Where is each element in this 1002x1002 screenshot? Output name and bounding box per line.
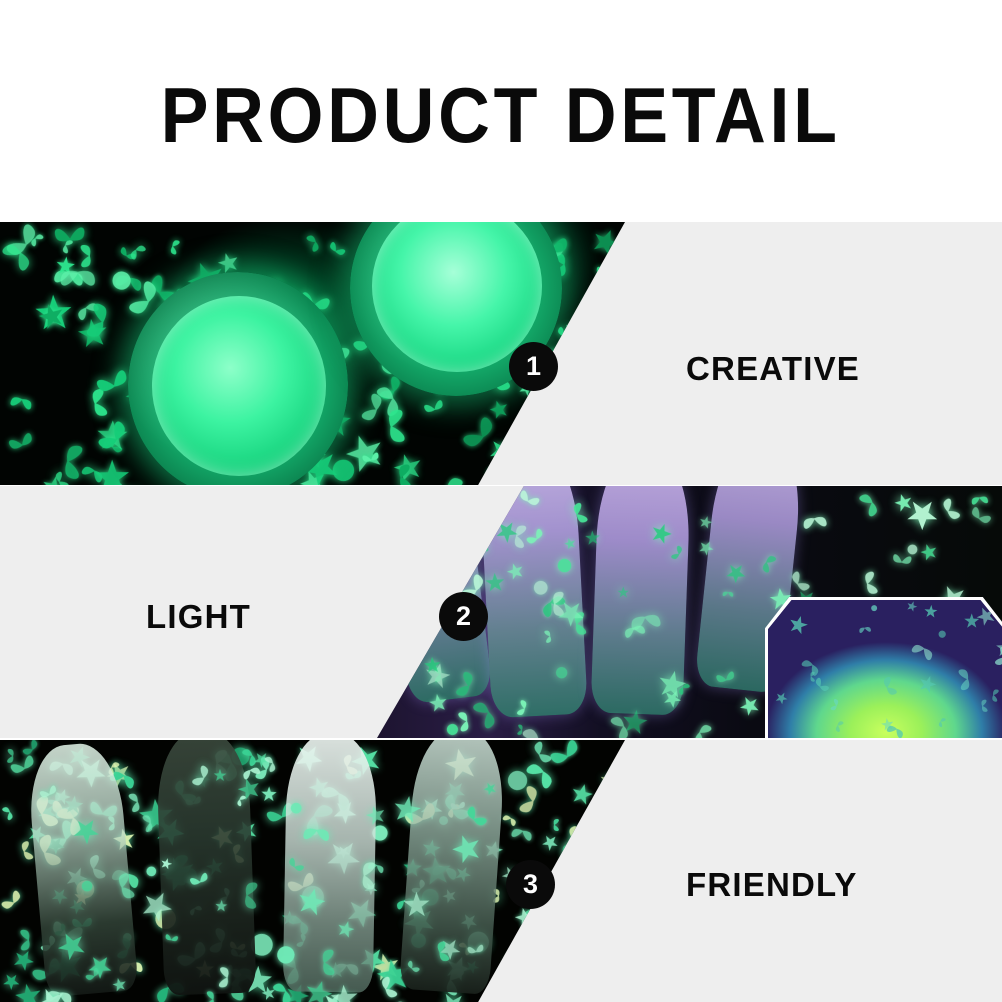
butterfly-sequin bbox=[621, 381, 625, 403]
star-sequin bbox=[538, 830, 562, 854]
star-sequin bbox=[34, 298, 71, 335]
star-sequin bbox=[478, 489, 500, 511]
coffin-nail-2 bbox=[155, 740, 256, 996]
star-sequin bbox=[563, 966, 595, 998]
butterfly-sequin bbox=[424, 466, 469, 485]
butterfly-sequin bbox=[908, 631, 941, 664]
butterfly-sequin bbox=[125, 789, 151, 815]
section-2-caption: LIGHT bbox=[146, 598, 251, 636]
star-sequin bbox=[443, 530, 474, 561]
butterfly-sequin bbox=[455, 708, 480, 733]
butterfly-sequin bbox=[857, 620, 872, 635]
star-sequin bbox=[918, 541, 940, 563]
butterfly-sequin bbox=[371, 406, 411, 446]
butterfly-sequin bbox=[962, 503, 995, 536]
butterfly-sequin bbox=[456, 410, 510, 464]
butterfly-sequin bbox=[549, 821, 592, 864]
star-sequin bbox=[9, 945, 38, 974]
butterfly-sequin bbox=[355, 389, 398, 432]
star-sequin bbox=[87, 453, 139, 485]
butterfly-sequin bbox=[546, 994, 567, 1002]
dot-sequin bbox=[933, 626, 950, 643]
butterfly-sequin bbox=[604, 817, 624, 837]
star-sequin bbox=[921, 603, 940, 622]
butterfly-sequin bbox=[99, 434, 126, 461]
butterfly-sequin bbox=[112, 260, 148, 296]
butterfly-sequin bbox=[80, 299, 127, 346]
butterfly-sequin bbox=[379, 633, 407, 661]
butterfly-sequin bbox=[17, 927, 42, 952]
step-badge-2: 2 bbox=[439, 592, 488, 641]
inset-butterfly-overlay bbox=[768, 600, 1002, 738]
butterfly-sequin bbox=[617, 797, 625, 820]
butterfly-sequin bbox=[969, 487, 990, 508]
butterfly-sequin bbox=[385, 548, 413, 576]
butterfly-sequin bbox=[52, 222, 88, 258]
star-sequin bbox=[389, 450, 427, 485]
butterfly-sequin bbox=[624, 363, 625, 388]
butterfly-sequin bbox=[58, 252, 98, 292]
butterfly-sequin bbox=[930, 494, 965, 529]
butterfly-sequin bbox=[520, 749, 567, 796]
star-sequin bbox=[590, 884, 625, 921]
butterfly-sequin bbox=[250, 753, 282, 785]
star-sequin bbox=[973, 603, 999, 629]
butterfly-sequin bbox=[974, 698, 990, 714]
star-sequin bbox=[587, 224, 623, 260]
butterfly-sequin bbox=[500, 807, 522, 829]
nail-3 bbox=[590, 486, 691, 716]
star-sequin bbox=[12, 981, 43, 1002]
dot-sequin bbox=[441, 717, 465, 738]
glitter-jar-left-contents bbox=[152, 296, 326, 476]
butterfly-sequin bbox=[533, 419, 587, 473]
butterfly-sequin bbox=[77, 385, 113, 421]
butterfly-sequin bbox=[509, 817, 537, 845]
butterfly-sequin bbox=[162, 236, 183, 257]
star-sequin bbox=[559, 321, 582, 344]
star-sequin bbox=[323, 996, 352, 1002]
butterfly-sequin bbox=[122, 236, 149, 263]
star-sequin bbox=[588, 946, 625, 984]
butterfly-sequin bbox=[805, 671, 817, 683]
star-sequin bbox=[617, 785, 625, 828]
dot-sequin bbox=[578, 320, 604, 346]
butterfly-sequin bbox=[54, 234, 76, 256]
butterfly-sequin bbox=[302, 229, 328, 255]
section-3-caption: FRIENDLY bbox=[686, 866, 858, 904]
star-sequin bbox=[613, 846, 625, 873]
star-sequin bbox=[551, 970, 579, 998]
star-sequin bbox=[904, 599, 920, 615]
butterfly-sequin bbox=[403, 480, 441, 485]
star-sequin bbox=[96, 419, 130, 453]
butterfly-sequin bbox=[46, 439, 89, 482]
star-sequin bbox=[564, 463, 603, 485]
coffin-nail-4 bbox=[399, 740, 507, 995]
coffin-nail-1 bbox=[25, 740, 138, 997]
butterfly-sequin bbox=[78, 453, 112, 485]
butterfly-sequin bbox=[594, 263, 617, 286]
butterfly-sequin bbox=[414, 732, 443, 738]
butterfly-sequin bbox=[114, 243, 139, 268]
page-title: PRODUCT DETAIL bbox=[161, 70, 841, 161]
butterfly-sequin bbox=[360, 449, 383, 472]
section-row-2: 2 LIGHT bbox=[0, 486, 1002, 738]
butterfly-sequin bbox=[393, 996, 418, 1002]
butterfly-sequin bbox=[421, 396, 449, 424]
butterfly-sequin bbox=[557, 938, 599, 980]
butterfly-sequin bbox=[51, 254, 88, 291]
butterfly-sequin bbox=[544, 740, 591, 781]
dot-sequin bbox=[103, 263, 139, 299]
butterfly-sequin bbox=[547, 818, 561, 832]
butterfly-sequin bbox=[682, 715, 716, 738]
butterfly-sequin bbox=[513, 991, 555, 1002]
butterfly-sequin bbox=[0, 228, 45, 278]
butterfly-sequin bbox=[514, 781, 554, 821]
butterfly-sequin bbox=[799, 503, 829, 533]
butterfly-sequin bbox=[24, 227, 47, 250]
butterfly-sequin bbox=[77, 243, 104, 270]
butterfly-sequin bbox=[470, 462, 510, 485]
butterfly-sequin bbox=[510, 468, 530, 485]
star-sequin bbox=[502, 937, 550, 985]
butterfly-sequin bbox=[851, 569, 882, 600]
butterfly-sequin bbox=[612, 923, 625, 949]
butterfly-sequin bbox=[464, 520, 484, 540]
butterfly-sequin bbox=[596, 905, 622, 931]
butterfly-sequin bbox=[579, 878, 623, 922]
butterfly-sequin bbox=[985, 686, 1001, 702]
butterfly-sequin bbox=[0, 222, 55, 273]
star-sequin bbox=[613, 784, 625, 826]
star-sequin bbox=[569, 781, 596, 808]
butterfly-sequin bbox=[532, 409, 571, 448]
butterfly-sequin bbox=[515, 724, 528, 737]
inset-glitter-jar-photo bbox=[768, 600, 1002, 738]
butterfly-sequin bbox=[525, 995, 558, 1002]
butterfly-sequin bbox=[872, 673, 901, 702]
star-sequin bbox=[892, 491, 916, 515]
inset-photo-frame bbox=[765, 597, 1002, 738]
butterfly-sequin bbox=[828, 697, 845, 714]
star-sequin bbox=[547, 462, 582, 485]
butterfly-sequin bbox=[614, 344, 625, 389]
butterfly-sequin bbox=[991, 644, 1002, 671]
butterfly-sequin bbox=[498, 418, 546, 466]
star-sequin bbox=[340, 430, 389, 479]
nail-2 bbox=[478, 486, 588, 718]
star-sequin bbox=[484, 432, 520, 468]
star-sequin bbox=[905, 499, 938, 532]
star-sequin bbox=[36, 471, 70, 485]
butterfly-sequin bbox=[829, 717, 846, 734]
butterfly-sequin bbox=[385, 462, 416, 485]
dot-sequin bbox=[900, 537, 924, 561]
coffin-nail-3 bbox=[283, 740, 377, 993]
step-badge-3: 3 bbox=[506, 860, 555, 909]
butterfly-sequin bbox=[46, 469, 73, 485]
butterfly-sequin bbox=[854, 486, 891, 521]
butterfly-sequin bbox=[808, 675, 833, 700]
butterfly-sequin bbox=[7, 384, 36, 413]
star-sequin bbox=[1, 971, 23, 993]
butterfly-sequin bbox=[261, 751, 284, 774]
star-sequin bbox=[775, 691, 789, 705]
star-sequin bbox=[259, 784, 280, 805]
butterfly-sequin bbox=[933, 714, 948, 729]
butterfly-sequin bbox=[388, 526, 405, 543]
star-sequin bbox=[992, 636, 1002, 663]
section-1-caption: CREATIVE bbox=[686, 350, 860, 388]
star-sequin bbox=[489, 400, 509, 420]
star-sequin bbox=[564, 896, 614, 946]
butterfly-sequin bbox=[564, 866, 610, 912]
butterfly-sequin bbox=[614, 829, 625, 875]
butterfly-sequin bbox=[0, 886, 31, 920]
dot-sequin bbox=[140, 860, 162, 882]
butterfly-sequin bbox=[884, 715, 911, 738]
butterfly-sequin bbox=[608, 921, 625, 947]
butterfly-sequin bbox=[596, 385, 625, 439]
star-sequin bbox=[590, 266, 625, 310]
star-sequin bbox=[595, 279, 625, 314]
butterfly-sequin bbox=[2, 990, 44, 1002]
star-sequin bbox=[914, 672, 939, 697]
star-sequin bbox=[879, 715, 898, 734]
butterfly-sequin bbox=[369, 973, 402, 1002]
section-row-3: 3 FRIENDLY bbox=[0, 740, 1002, 1002]
star-sequin bbox=[101, 474, 153, 485]
butterfly-sequin bbox=[577, 947, 616, 986]
star-sequin bbox=[736, 692, 763, 719]
star-sequin bbox=[250, 747, 273, 770]
star-sequin bbox=[785, 611, 812, 638]
butterfly-sequin bbox=[548, 841, 581, 874]
star-sequin bbox=[72, 313, 116, 357]
butterfly-sequin bbox=[563, 823, 608, 868]
butterfly-sequin bbox=[557, 822, 587, 852]
dot-sequin bbox=[320, 447, 367, 485]
star-sequin bbox=[27, 287, 82, 342]
star-sequin bbox=[261, 985, 277, 1001]
butterfly-sequin bbox=[0, 802, 21, 824]
butterfly-sequin bbox=[612, 332, 625, 369]
butterfly-sequin bbox=[5, 427, 40, 462]
butterfly-sequin bbox=[322, 239, 348, 265]
butterfly-sequin bbox=[954, 665, 981, 692]
product-detail-page: PRODUCT DETAIL 1 CREATIVE bbox=[0, 0, 1002, 1002]
step-badge-1: 1 bbox=[509, 342, 558, 391]
butterfly-sequin bbox=[580, 899, 616, 935]
butterfly-sequin bbox=[453, 511, 482, 540]
butterfly-sequin bbox=[997, 621, 1002, 656]
star-sequin bbox=[606, 795, 625, 828]
butterfly-sequin bbox=[238, 741, 267, 770]
butterfly-sequin bbox=[579, 294, 608, 323]
section-row-1: 1 CREATIVE bbox=[0, 222, 1002, 485]
star-sequin bbox=[527, 434, 554, 461]
butterfly-sequin bbox=[516, 717, 561, 738]
butterfly-sequin bbox=[591, 398, 625, 438]
butterfly-sequin bbox=[68, 290, 103, 325]
butterfly-sequin bbox=[5, 747, 22, 764]
butterfly-sequin bbox=[576, 929, 598, 951]
star-sequin bbox=[598, 767, 625, 798]
butterfly-sequin bbox=[551, 389, 572, 410]
star-sequin bbox=[962, 611, 982, 631]
butterfly-sequin bbox=[578, 363, 600, 385]
star-sequin bbox=[54, 254, 78, 278]
butterfly-sequin bbox=[504, 946, 535, 977]
butterfly-sequin bbox=[798, 649, 829, 680]
butterfly-sequin bbox=[889, 551, 913, 575]
butterfly-sequin bbox=[553, 414, 585, 446]
page-header: PRODUCT DETAIL bbox=[0, 0, 1002, 222]
butterfly-sequin bbox=[547, 469, 590, 485]
dot-sequin bbox=[869, 603, 880, 614]
butterfly-sequin bbox=[521, 740, 556, 772]
